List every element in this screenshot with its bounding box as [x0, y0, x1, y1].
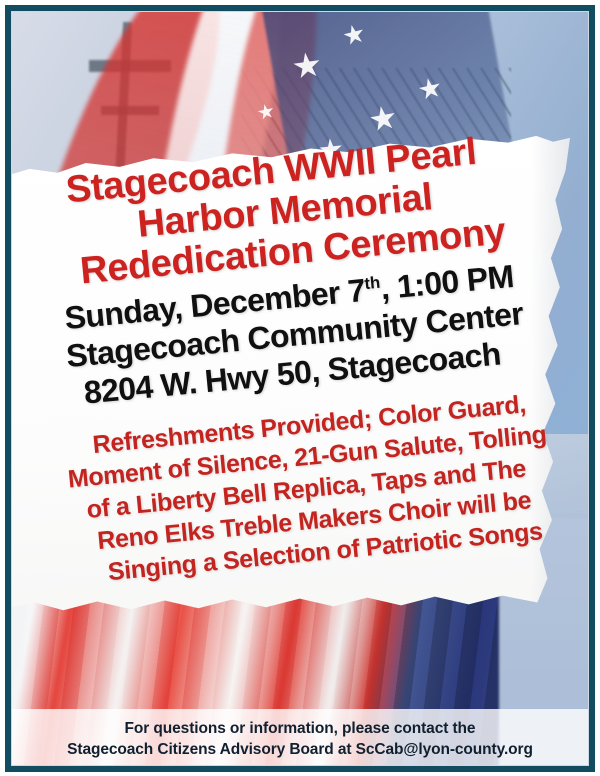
contact-line-1: For questions or information, please con…	[125, 720, 476, 738]
contact-line-2: Stagecoach Citizens Advisory Board at Sc…	[67, 741, 533, 759]
memorial-ceremony-flyer: Stagecoach WWII Pearl Harbor Memorial Re…	[0, 0, 600, 776]
flyer-text-block: Stagecoach WWII Pearl Harbor Memorial Re…	[0, 125, 589, 596]
date-ordinal-suffix: th	[364, 273, 381, 293]
contact-footer: For questions or information, please con…	[7, 709, 593, 769]
